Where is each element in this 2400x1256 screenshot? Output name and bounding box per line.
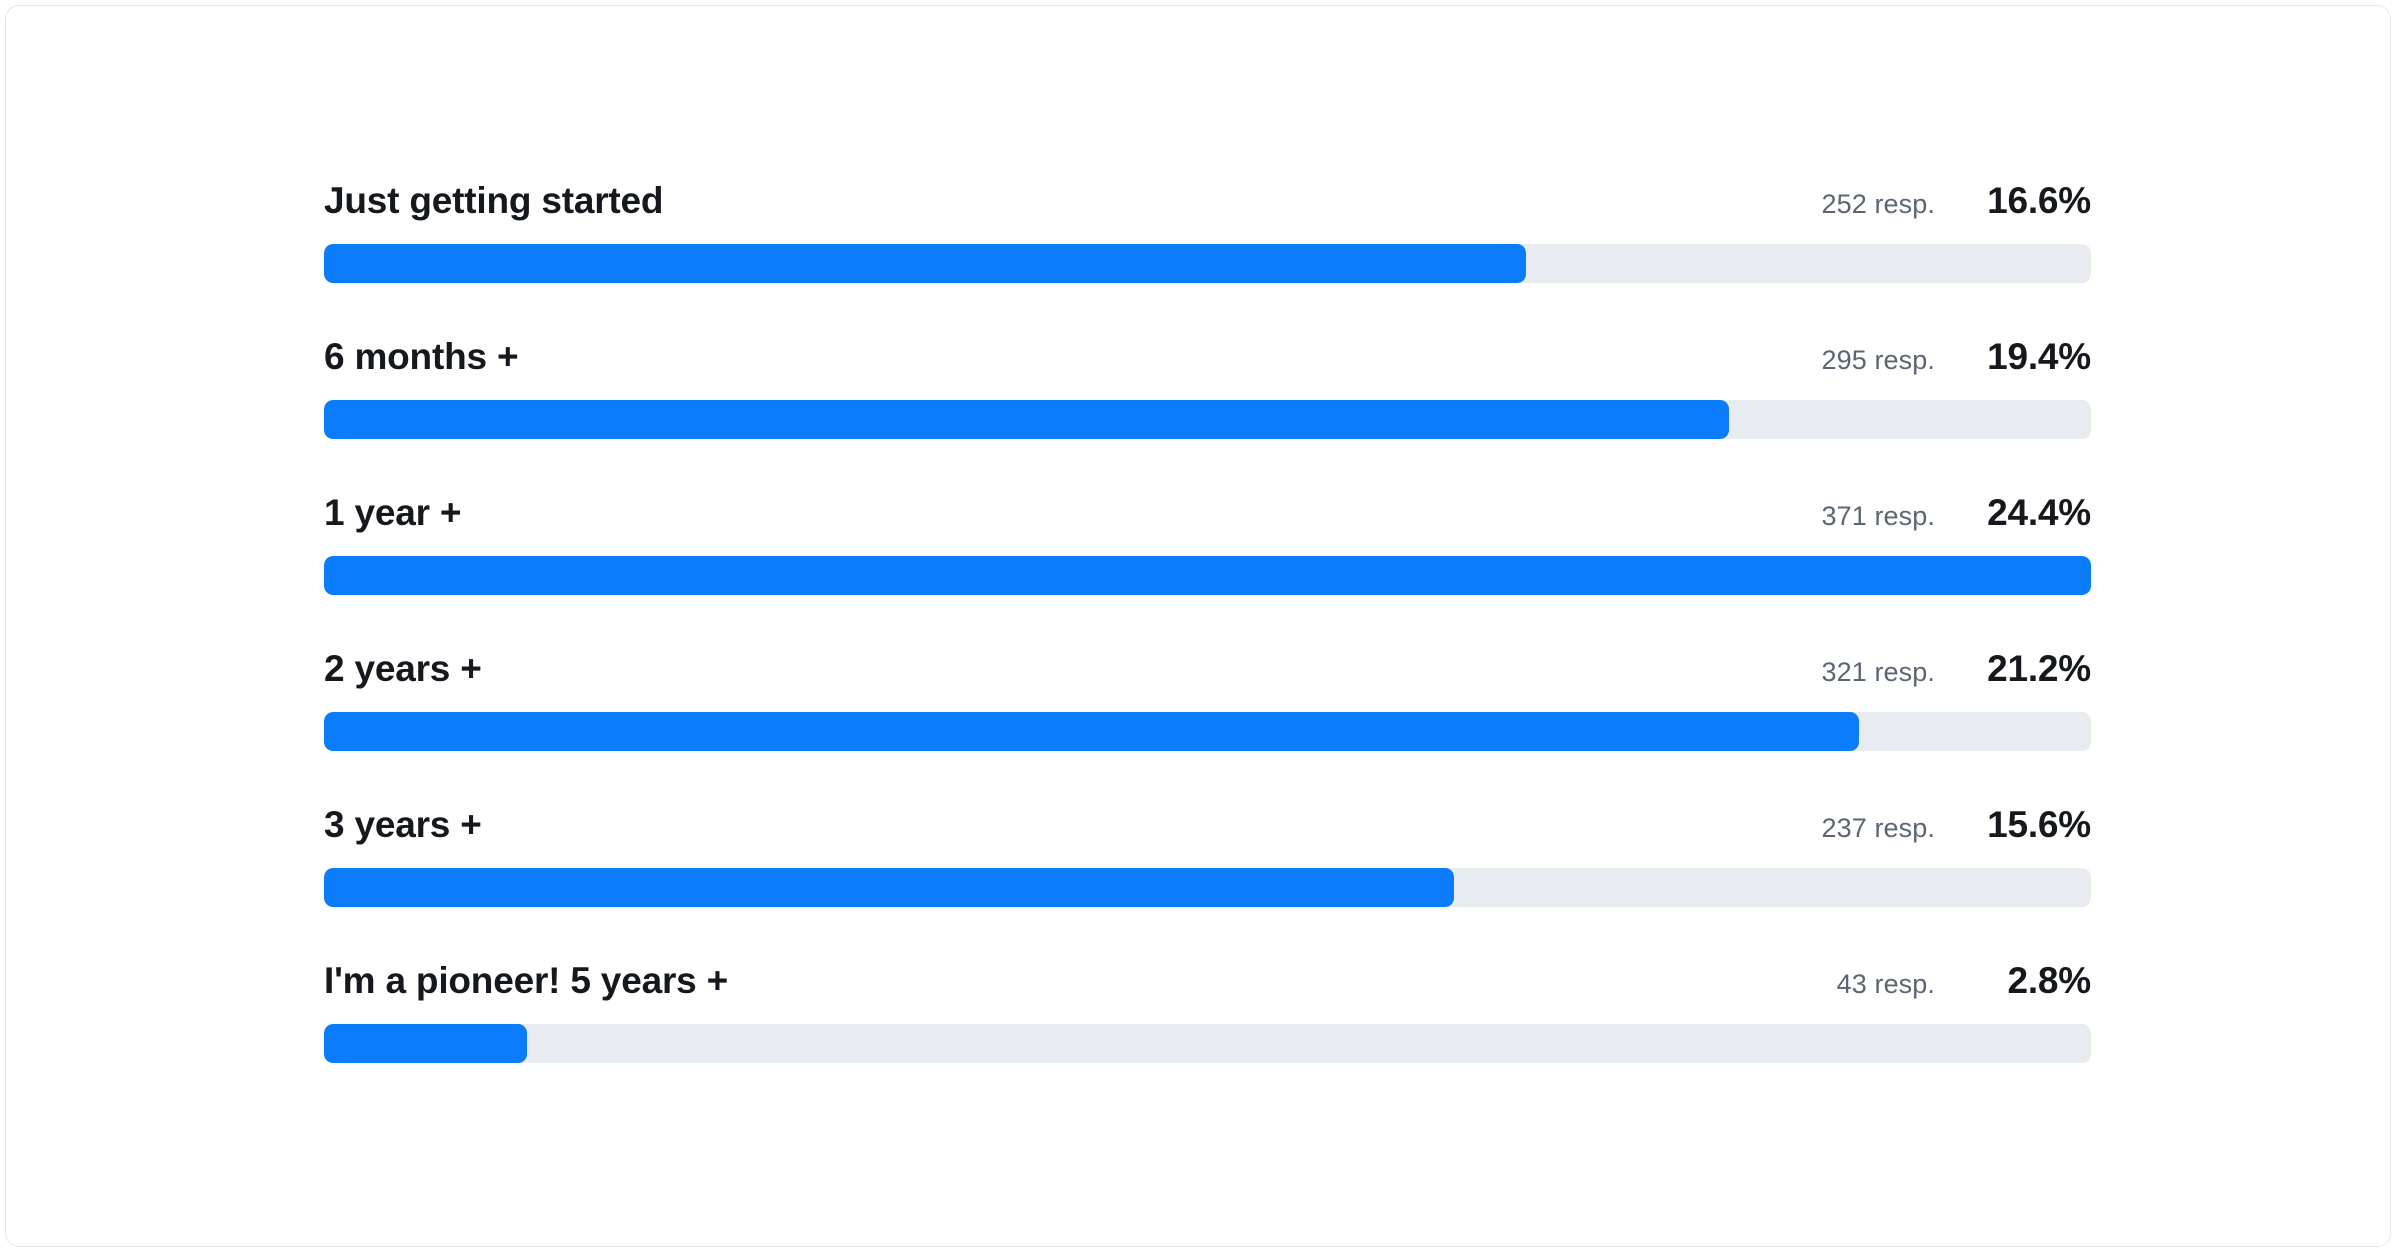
poll-option-header: I'm a pioneer! 5 years +43 resp.2.8% — [324, 958, 2091, 1004]
poll-option-bar-track — [324, 556, 2091, 595]
poll-option-percentage: 21.2% — [1963, 646, 2091, 692]
poll-option-row: Just getting started252 resp.16.6% — [324, 178, 2091, 296]
poll-option-label: 1 year + — [324, 490, 461, 536]
poll-option-values: 321 resp.21.2% — [1822, 646, 2091, 695]
poll-option-percentage: 16.6% — [1963, 178, 2091, 224]
poll-option-percentage: 19.4% — [1963, 334, 2091, 380]
poll-option-bar-track — [324, 1024, 2091, 1063]
poll-option-bar-fill — [324, 556, 2091, 595]
poll-option-values: 371 resp.24.4% — [1822, 490, 2091, 539]
poll-results-card: Just getting started252 resp.16.6%6 mont… — [5, 5, 2391, 1247]
poll-option-bar-fill — [324, 712, 1859, 751]
poll-option-values: 295 resp.19.4% — [1822, 334, 2091, 383]
poll-option-header: Just getting started252 resp.16.6% — [324, 178, 2091, 224]
poll-option-response-count: 321 resp. — [1822, 649, 1935, 695]
poll-option-header: 2 years +321 resp.21.2% — [324, 646, 2091, 692]
poll-option-header: 1 year +371 resp.24.4% — [324, 490, 2091, 536]
poll-option-response-count: 237 resp. — [1822, 805, 1935, 851]
poll-option-percentage: 24.4% — [1963, 490, 2091, 536]
poll-option-bar-fill — [324, 244, 1526, 283]
poll-option-bar-fill — [324, 1024, 527, 1063]
poll-option-bar-fill — [324, 400, 1729, 439]
poll-option-row: 3 years +237 resp.15.6% — [324, 802, 2091, 920]
poll-option-response-count: 252 resp. — [1822, 181, 1935, 227]
poll-option-row: 6 months +295 resp.19.4% — [324, 334, 2091, 452]
poll-option-label: 6 months + — [324, 334, 518, 380]
poll-option-header: 6 months +295 resp.19.4% — [324, 334, 2091, 380]
poll-option-bar-fill — [324, 868, 1454, 907]
poll-option-label: Just getting started — [324, 178, 663, 224]
poll-option-row: 1 year +371 resp.24.4% — [324, 490, 2091, 608]
poll-option-response-count: 295 resp. — [1822, 337, 1935, 383]
poll-option-row: I'm a pioneer! 5 years +43 resp.2.8% — [324, 958, 2091, 1076]
poll-option-values: 237 resp.15.6% — [1822, 802, 2091, 851]
poll-option-percentage: 15.6% — [1963, 802, 2091, 848]
poll-option-response-count: 43 resp. — [1837, 961, 1935, 1007]
poll-option-header: 3 years +237 resp.15.6% — [324, 802, 2091, 848]
poll-option-bar-track — [324, 712, 2091, 751]
poll-option-bar-track — [324, 868, 2091, 907]
poll-option-percentage: 2.8% — [1963, 958, 2091, 1004]
poll-option-values: 43 resp.2.8% — [1837, 958, 2091, 1007]
poll-option-row: 2 years +321 resp.21.2% — [324, 646, 2091, 764]
poll-option-label: 2 years + — [324, 646, 482, 692]
poll-option-bar-track — [324, 400, 2091, 439]
poll-option-bar-track — [324, 244, 2091, 283]
poll-results-list: Just getting started252 resp.16.6%6 mont… — [324, 178, 2091, 1076]
poll-option-values: 252 resp.16.6% — [1822, 178, 2091, 227]
poll-option-label: 3 years + — [324, 802, 482, 848]
poll-option-label: I'm a pioneer! 5 years + — [324, 958, 728, 1004]
poll-option-response-count: 371 resp. — [1822, 493, 1935, 539]
